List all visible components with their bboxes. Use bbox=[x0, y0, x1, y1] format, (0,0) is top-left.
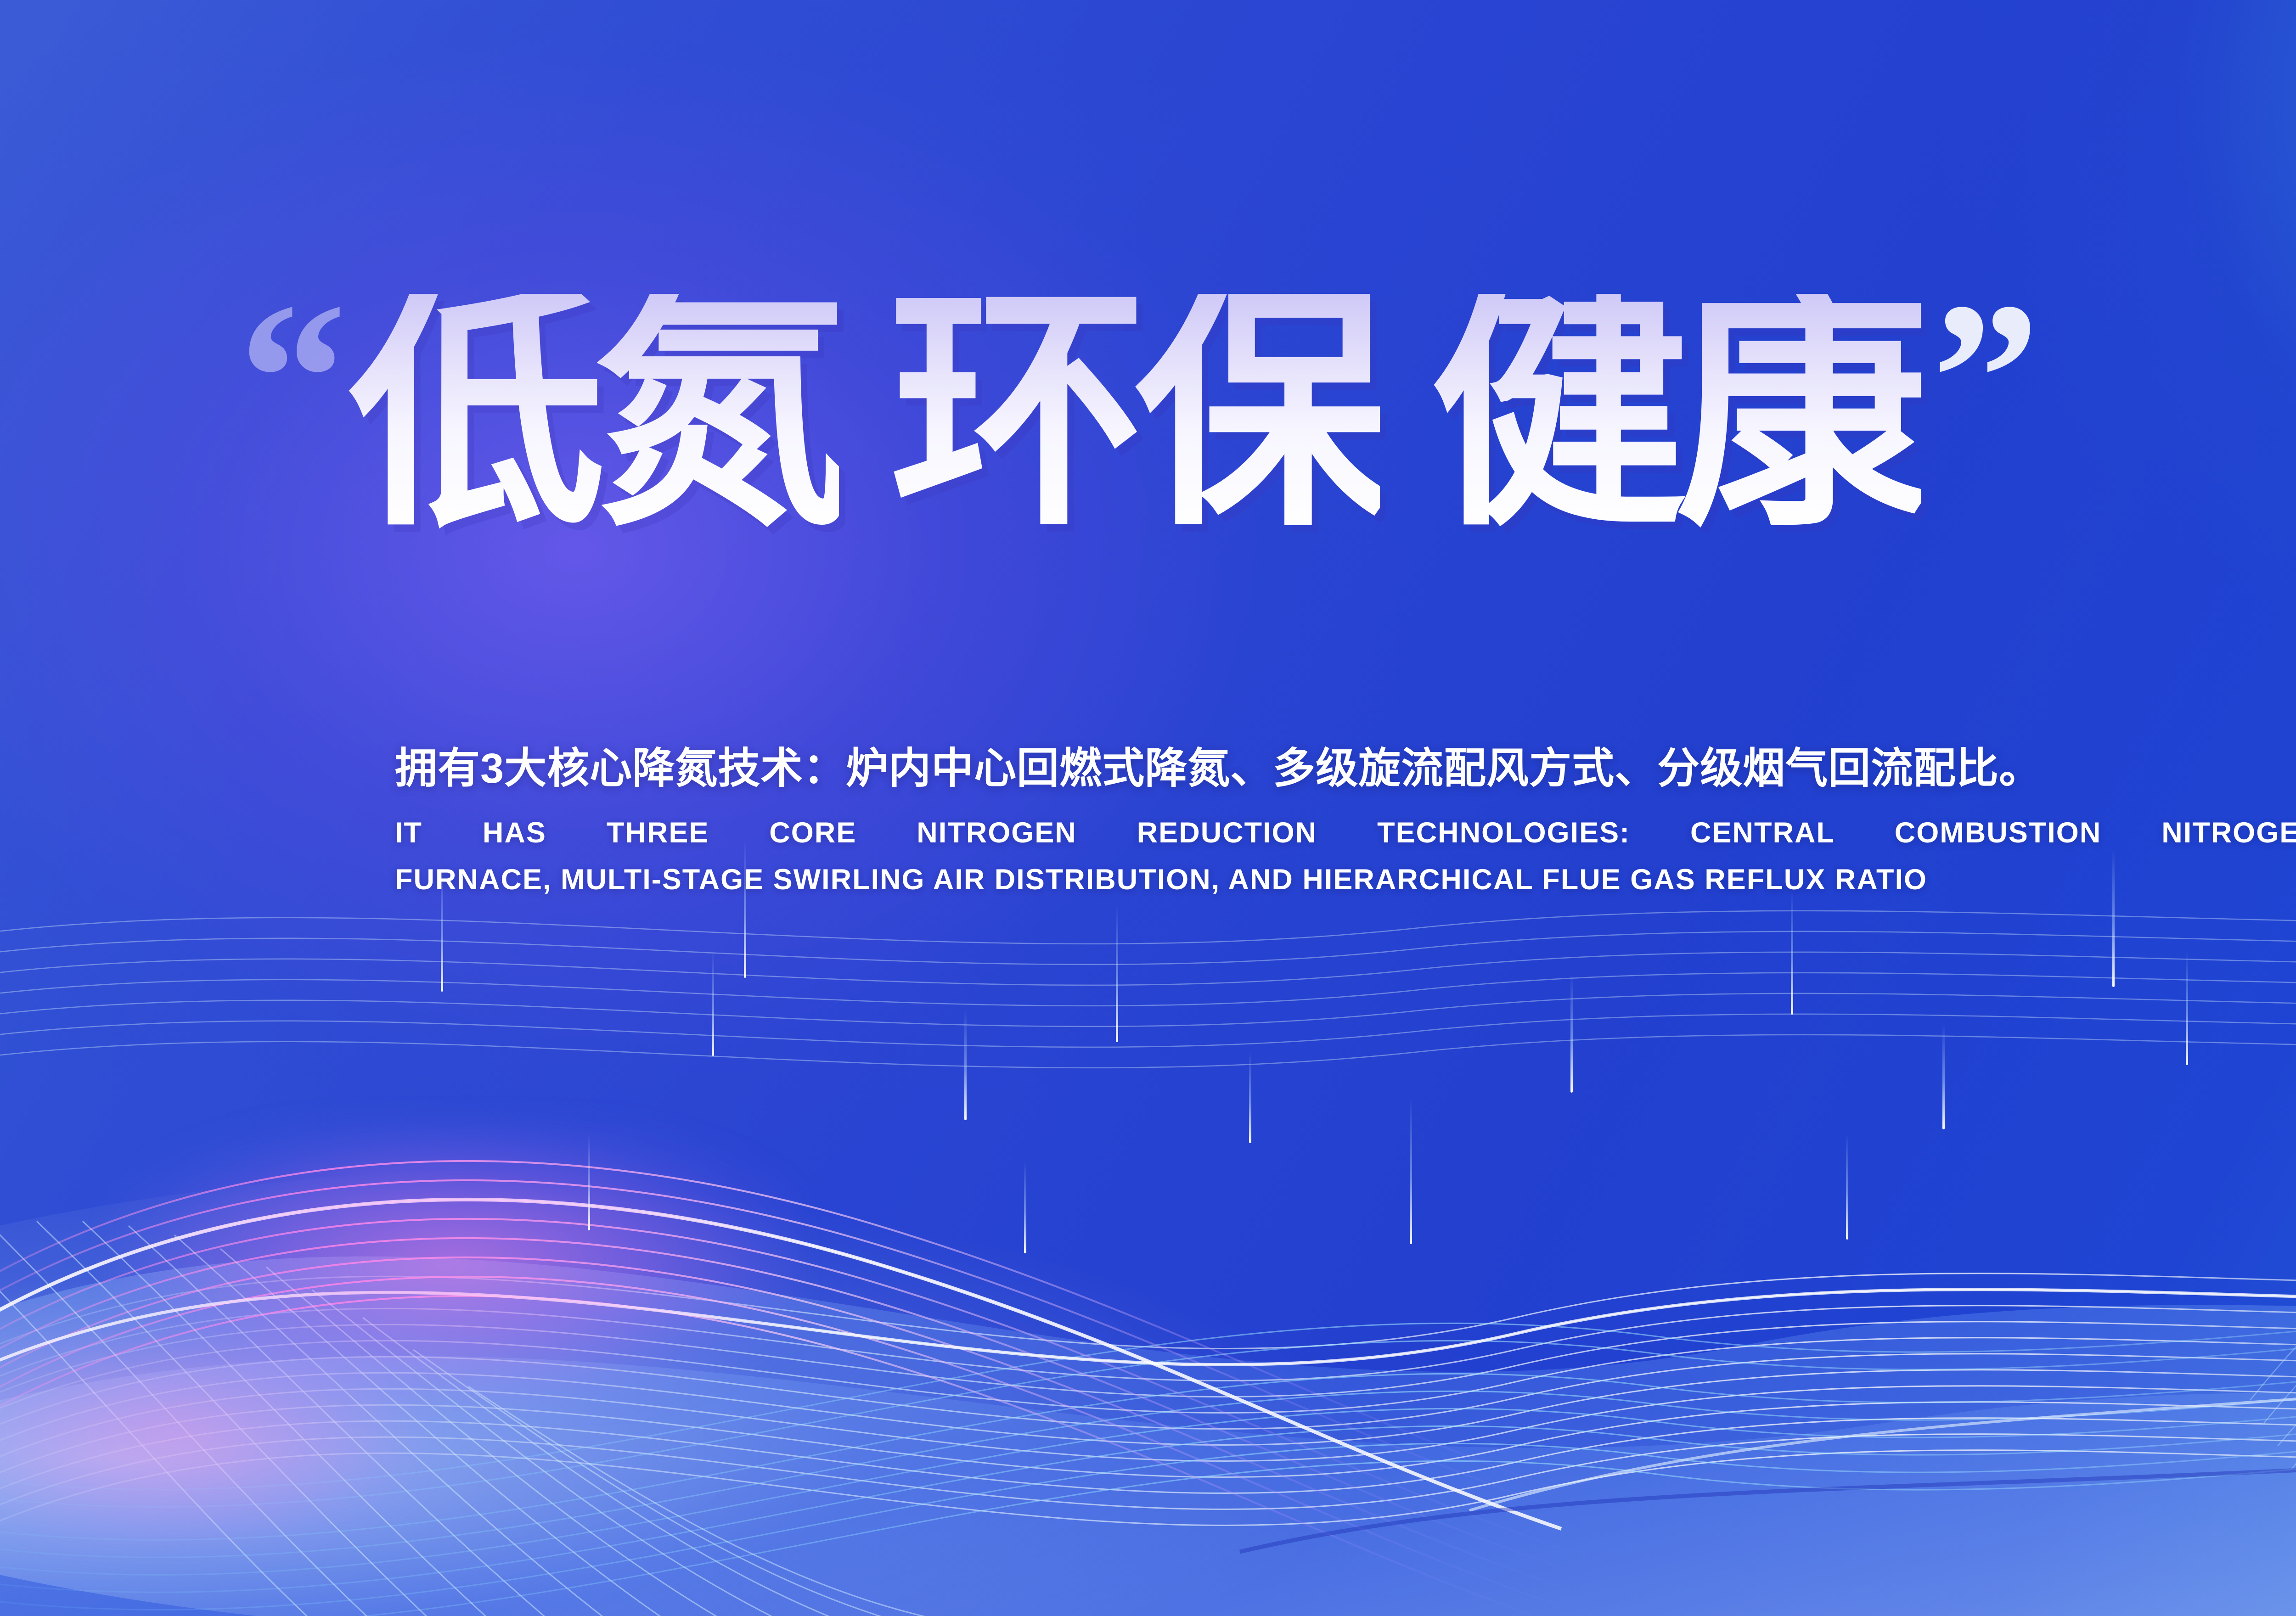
vertical-light-streaks bbox=[0, 813, 2296, 1616]
closing-quote-mark: ” bbox=[1932, 294, 2040, 462]
subtitle-block: 拥有3大核心降氮技术：炉内中心回燃式降氮、多级旋流配风方式、分级烟气回流配比。 … bbox=[395, 744, 2296, 903]
light-streak bbox=[1570, 973, 1573, 1093]
headline-word-low-nitrogen: 低氮 bbox=[349, 294, 839, 530]
light-streak bbox=[1249, 1051, 1251, 1143]
headline-word-health: 健康 bbox=[1430, 294, 1921, 530]
light-streak bbox=[1791, 891, 1793, 1015]
diagonal-stripe-panel bbox=[2245, 0, 2296, 725]
light-streak bbox=[1846, 1134, 1848, 1240]
light-streak bbox=[1024, 1161, 1026, 1253]
promotional-banner: 科技-共赢 SCIENCE AND TECHNOLOGY AND WIN-WIN… bbox=[0, 0, 2296, 1616]
headline-block: “ 低氮 环保 健康 ” bbox=[239, 294, 2040, 530]
light-streak bbox=[712, 950, 714, 1056]
pink-glow-accent-2 bbox=[0, 1313, 432, 1552]
light-streak bbox=[964, 1010, 967, 1120]
light-streak bbox=[1942, 1024, 1945, 1129]
subtitle-english: IT HAS THREE CORE NITROGEN REDUCTION TEC… bbox=[395, 809, 2296, 903]
subtitle-english-line-1: IT HAS THREE CORE NITROGEN REDUCTION TEC… bbox=[395, 809, 2296, 856]
opening-quote-mark: “ bbox=[239, 294, 347, 462]
pink-glow-accent bbox=[110, 1120, 799, 1405]
headline-word-environmental: 环保 bbox=[889, 294, 1380, 530]
light-streak bbox=[2186, 950, 2188, 1065]
headline-words: 低氮 环保 健康 bbox=[349, 294, 1921, 530]
subtitle-chinese: 拥有3大核心降氮技术：炉内中心回燃式降氮、多级旋流配风方式、分级烟气回流配比。 bbox=[395, 744, 2296, 794]
subtitle-english-line-2: FURNACE, MULTI-STAGE SWIRLING AIR DISTRI… bbox=[395, 856, 2296, 903]
light-streak bbox=[588, 1134, 590, 1230]
light-streak bbox=[1116, 904, 1118, 1042]
light-streak bbox=[1410, 1097, 1412, 1244]
wave-artwork bbox=[0, 858, 2296, 1616]
